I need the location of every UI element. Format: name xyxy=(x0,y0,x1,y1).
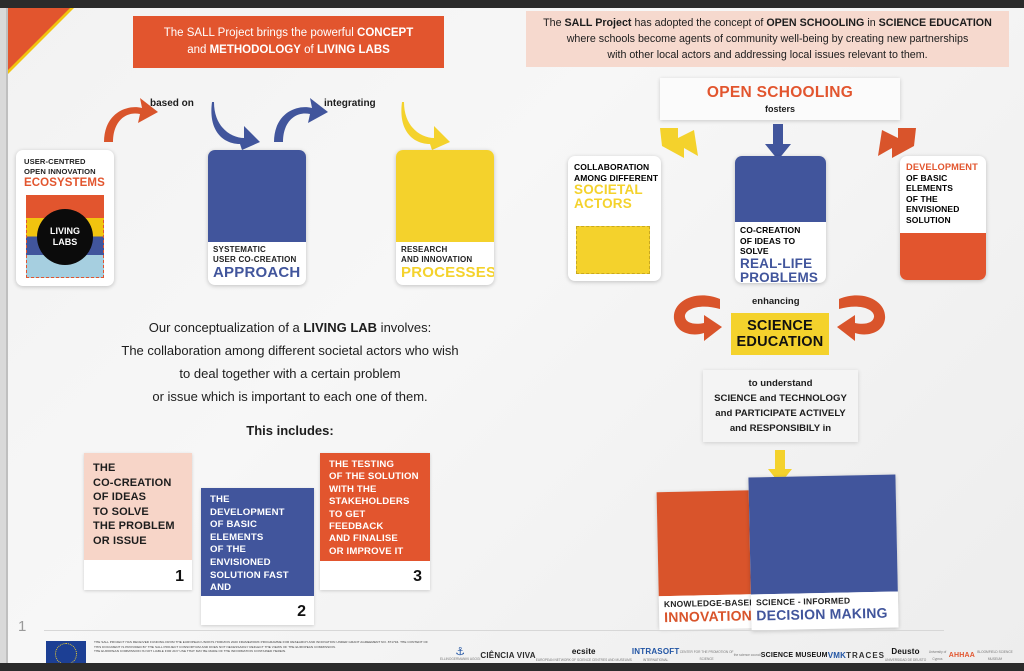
card-processes-big: PROCESSES xyxy=(401,264,494,281)
logo-vmk: VMK xyxy=(828,652,846,661)
logo-ahhaa-name: AHHAA xyxy=(949,652,975,659)
this-includes-label: This includes: xyxy=(40,423,540,438)
conceptualization-paragraph: Our conceptualization of a LIVING LAB in… xyxy=(40,316,540,408)
development-swatch xyxy=(900,233,986,280)
right-header-banner: The SALL Project has adopted the concept… xyxy=(526,11,1009,67)
logo-science-museum: SCIENCE MUSEUM xyxy=(761,652,828,660)
living-labs-circle: LIVING LABS xyxy=(37,209,93,265)
card-processes-caption: RESEARCH AND INNOVATION PROCESSES xyxy=(396,242,494,281)
understand-line4: and RESPONSIBILY in xyxy=(730,421,831,436)
step-2-number: 2 xyxy=(297,603,306,621)
real-life-big2: PROBLEMS xyxy=(740,271,826,284)
logo-cpn-name: CENTER FOR THE PROMOTION OF SCIENCE xyxy=(679,649,733,664)
development-line2: ELEMENTS xyxy=(906,183,986,194)
logo-intrasoft: INTRASOFT INTERNATIONAL xyxy=(632,648,680,663)
card-processes: RESEARCH AND INNOVATION PROCESSES xyxy=(396,150,494,285)
decision-making-cap2: DECISION MAKING xyxy=(756,605,893,624)
step-box-3: THE TESTING OF THE SOLUTION WITH THE STA… xyxy=(320,453,430,590)
para-line1a: Our conceptualization of a xyxy=(149,320,304,335)
logo-deusto-name: Deusto xyxy=(891,647,919,656)
societal-actors-big1: SOCIETAL xyxy=(574,183,661,197)
development-caption: DEVELOPMENT OF BASIC ELEMENTS OF THE ENV… xyxy=(900,156,986,225)
logo-ecsite: ecsite EUROPEAN NETWORK OF SCIENCE CENTR… xyxy=(536,648,632,663)
banner-right-line1a: The xyxy=(543,17,564,29)
card-processes-line1: RESEARCH xyxy=(401,245,494,255)
living-labs-heading: USER-CENTRED OPEN INNOVATION ECOSYSTEMS xyxy=(16,150,114,190)
arrow-orange-curve-right xyxy=(833,293,889,341)
logo-intrasoft-sub: INTERNATIONAL xyxy=(632,657,680,664)
open-schooling-sub: fosters xyxy=(765,104,795,114)
page-left-edge-shade xyxy=(6,8,8,663)
development-line3: OF THE xyxy=(906,194,986,205)
banner-left-methodology: METHODOLOGY xyxy=(210,44,301,56)
step-3-body: THE TESTING OF THE SOLUTION WITH THE STA… xyxy=(320,453,430,561)
card-societal-actors: COLLABORATION AMONG DIFFERENT SOCIETAL A… xyxy=(568,156,661,281)
living-labs-head1: USER-CENTRED xyxy=(24,157,114,167)
banner-left-line2a: and xyxy=(187,44,209,56)
open-schooling-box: OPEN SCHOOLING fosters xyxy=(660,78,900,120)
para-line4: or issue which is important to each one … xyxy=(40,385,540,408)
card-processes-line2: AND INNOVATION xyxy=(401,255,494,265)
real-life-line2: OF IDEAS TO SOLVE xyxy=(740,236,826,257)
societal-actors-line1: COLLABORATION xyxy=(574,162,661,173)
banner-left-line1a: The SALL Project brings the powerful xyxy=(164,27,357,39)
real-life-big1: REAL-LIFE xyxy=(740,257,826,271)
card-living-labs: USER-CENTRED OPEN INNOVATION ECOSYSTEMS … xyxy=(16,150,114,286)
living-labs-circle-line2: LABS xyxy=(53,237,78,248)
decision-making-caption: SCIENCE - INFORMED DECISION MAKING xyxy=(751,591,899,628)
step-3-text: THE TESTING OF THE SOLUTION WITH THE STA… xyxy=(320,453,430,568)
outcome-card-decision-making: SCIENCE - INFORMED DECISION MAKING xyxy=(748,474,898,630)
banner-right-line3: with other local actors and addressing l… xyxy=(607,47,927,63)
step-2-body: THE DEVELOPMENT OF BASIC ELEMENTS OF THE… xyxy=(201,488,314,596)
development-line1: OF BASIC xyxy=(906,173,986,184)
arrow-yellow-down-1 xyxy=(398,98,450,150)
card-approach-color-block xyxy=(208,150,306,242)
logo-traces: TRACES xyxy=(846,652,885,661)
understand-line3: and PARTICIPATE ACTIVELY xyxy=(715,406,845,421)
logo-intrasoft-name: INTRASOFT xyxy=(632,647,680,656)
living-labs-head3: ECOSYSTEMS xyxy=(24,177,114,190)
banner-left-line2c: of xyxy=(301,44,317,56)
logo-traces-name: TRACES xyxy=(846,651,885,660)
logo-science-council-name: the science council xyxy=(734,652,761,660)
living-labs-head2: OPEN INNOVATION xyxy=(24,167,114,177)
logo-science-museum-name: SCIENCE MUSEUM xyxy=(761,652,828,659)
page-number: 1 xyxy=(18,618,26,635)
logo-ciencia-viva-name: CIÊNCIA VIVA xyxy=(480,651,535,660)
logo-ellinogermaniki-sub: ELLINOGERMANIKI AGOGI xyxy=(440,656,480,663)
logo-ecsite-sub: EUROPEAN NETWORK OF SCIENCE CENTRES AND … xyxy=(536,657,632,664)
logo-deusto-sub: UNIVERSIDAD DE DEUSTO xyxy=(885,657,926,664)
corner-accent-orange xyxy=(8,8,70,70)
para-living-lab: LIVING LAB xyxy=(303,320,377,335)
banner-right-line2: where schools become agents of community… xyxy=(567,31,969,47)
real-life-caption: CO-CREATION OF IDEAS TO SOLVE REAL-LIFE … xyxy=(735,222,826,283)
living-labs-circle-line1: LIVING xyxy=(50,226,80,237)
science-education-line1: SCIENCE xyxy=(747,318,813,334)
eu-flag-icon xyxy=(46,641,86,663)
logo-ahhaa: AHHAA xyxy=(949,652,975,660)
logo-bloomfield: BLOOMFIELD SCIENCE MUSEUM xyxy=(975,649,1015,664)
para-line2: The collaboration among different societ… xyxy=(40,339,540,362)
real-life-color-block xyxy=(735,156,826,222)
understand-box: to understand SCIENCE and TECHNOLOGY and… xyxy=(703,370,858,442)
science-education-box: SCIENCE EDUCATION xyxy=(731,313,829,355)
logo-deusto: Deusto UNIVERSIDAD DE DEUSTO xyxy=(885,648,926,663)
logo-cyprus: University of Cyprus xyxy=(926,649,949,664)
card-approach-big: APPROACH xyxy=(213,264,306,281)
banner-right-line1e: in xyxy=(864,17,878,29)
card-approach-line2: USER CO-CREATION xyxy=(213,255,306,265)
logo-vmk-name: VMK xyxy=(828,651,846,660)
logo-cyprus-name: University of Cyprus xyxy=(926,649,949,664)
card-approach-line1: SYSTEMATIC xyxy=(213,245,306,255)
societal-actors-caption: COLLABORATION AMONG DIFFERENT SOCIETAL A… xyxy=(568,156,661,211)
step-1-text: THE CO-CREATION OF IDEAS TO SOLVE THE PR… xyxy=(84,453,192,558)
card-real-life-problems: CO-CREATION OF IDEAS TO SOLVE REAL-LIFE … xyxy=(735,156,826,283)
logo-cpn: CENTER FOR THE PROMOTION OF SCIENCE xyxy=(679,649,733,664)
banner-right-science-education: SCIENCE EDUCATION xyxy=(879,17,992,29)
logo-ellinogermaniki: ⚓ ELLINOGERMANIKI AGOGI xyxy=(440,649,480,664)
arrow-orange-curve-left xyxy=(670,293,726,341)
disclaimer-line3: THE EUROPEAN COMMISSION IS NOT LIABLE FO… xyxy=(94,649,444,654)
arrow-blue-down xyxy=(765,124,791,160)
science-education-line2: EDUCATION xyxy=(737,334,824,350)
step-3-number: 3 xyxy=(413,568,422,586)
disclaimer-line1: THE SALL PROJECT HAS RECEIVED FUNDING FR… xyxy=(94,640,444,645)
banner-left-living-labs: LIVING LABS xyxy=(317,44,390,56)
label-enhancing: enhancing xyxy=(752,296,800,307)
arrow-blue-down-1 xyxy=(208,98,260,150)
banner-right-sall: SALL Project xyxy=(565,17,632,29)
understand-line2: SCIENCE and TECHNOLOGY xyxy=(714,391,847,406)
card-approach: SYSTEMATIC USER CO-CREATION APPROACH xyxy=(208,150,306,285)
banner-right-open-schooling: OPEN SCHOOLING xyxy=(766,17,864,29)
banner-right-line1c: has adopted the concept of xyxy=(631,17,766,29)
arrow-orange-down-right xyxy=(872,126,918,160)
arrow-blue-up-right xyxy=(270,96,328,144)
arrow-yellow-down-left xyxy=(658,126,704,160)
decision-making-image xyxy=(748,474,897,594)
para-line3: to deal together with a certain problem xyxy=(40,362,540,385)
step-1-body: THE CO-CREATION OF IDEAS TO SOLVE THE PR… xyxy=(84,453,192,560)
step-box-1: THE CO-CREATION OF IDEAS TO SOLVE THE PR… xyxy=(84,453,192,590)
development-head: DEVELOPMENT xyxy=(906,162,986,173)
step-box-2: THE DEVELOPMENT OF BASIC ELEMENTS OF THE… xyxy=(201,488,314,625)
logo-science-council: the science council xyxy=(734,652,761,660)
para-line1c: involves: xyxy=(377,320,431,335)
logo-ecsite-name: ecsite xyxy=(572,647,596,656)
development-line5: SOLUTION xyxy=(906,215,986,226)
card-approach-caption: SYSTEMATIC USER CO-CREATION APPROACH xyxy=(208,242,306,281)
development-line4: ENVISIONED xyxy=(906,204,986,215)
label-based-on: based on xyxy=(150,98,194,109)
card-processes-color-block xyxy=(396,150,494,242)
card-development-solution: DEVELOPMENT OF BASIC ELEMENTS OF THE ENV… xyxy=(900,156,986,280)
step-1-number: 1 xyxy=(175,568,184,586)
banner-left-concept: CONCEPT xyxy=(357,27,413,39)
understand-line1: to understand xyxy=(749,376,813,391)
eu-stars-icon xyxy=(55,643,77,663)
living-labs-stamp-graphic: LIVING LABS xyxy=(26,195,104,278)
logo-bloomfield-name: BLOOMFIELD SCIENCE MUSEUM xyxy=(975,649,1015,664)
open-schooling-title: OPEN SCHOOLING xyxy=(707,84,853,102)
funding-disclaimer: THE SALL PROJECT HAS RECEIVED FUNDING FR… xyxy=(94,640,444,654)
logo-ciencia-viva: CIÊNCIA VIVA xyxy=(480,652,535,661)
label-integrating: integrating xyxy=(324,98,376,109)
real-life-line1: CO-CREATION xyxy=(740,225,826,236)
societal-actors-swatch xyxy=(576,226,650,274)
left-header-banner: The SALL Project brings the powerful CON… xyxy=(133,16,444,68)
footer-divider xyxy=(44,630,944,631)
partner-logo-bar: ⚓ ELLINOGERMANIKI AGOGI CIÊNCIA VIVA ecs… xyxy=(440,640,1015,663)
societal-actors-big2: ACTORS xyxy=(574,197,661,211)
infographic-page: The SALL Project brings the powerful CON… xyxy=(0,8,1024,663)
